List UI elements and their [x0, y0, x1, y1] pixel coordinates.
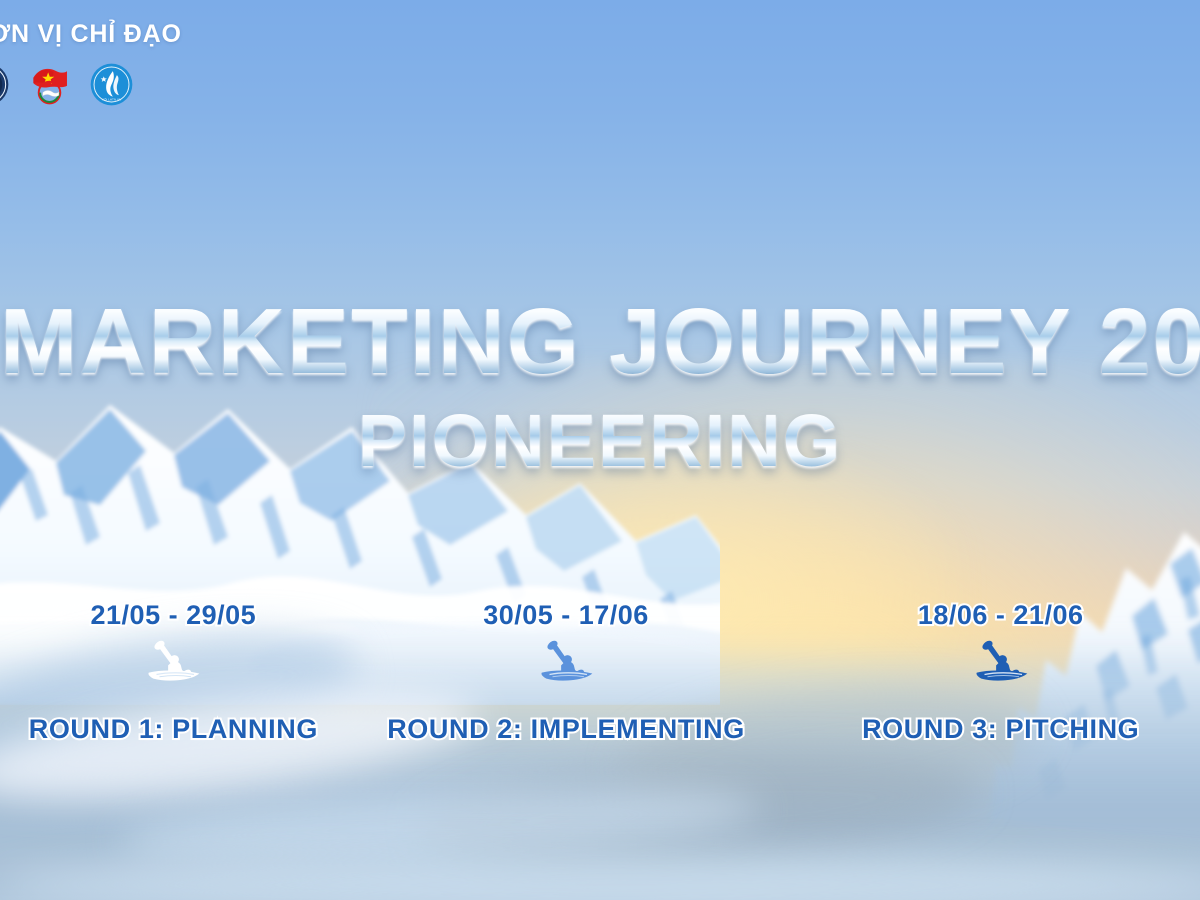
page-title: MARKETING JOURNEY 2024: [0, 297, 1200, 386]
svg-text:HỘI LHTN VN: HỘI LHTN VN: [102, 97, 122, 102]
university-seal-logo: ĐẠI HỌC: [0, 63, 9, 106]
poster-canvas: ĐƠN VỊ CHỈ ĐẠO ĐẠI HỌC: [0, 0, 1200, 900]
round-date: 30/05 - 17/06: [483, 600, 649, 631]
title-block: MARKETING JOURNEY 2024 PIONEERING: [0, 297, 1200, 478]
page-subtitle: PIONEERING: [0, 404, 1200, 478]
round-name: ROUND 3: PITCHING: [862, 714, 1139, 745]
rounds-timeline: 21/05 - 29/05 ROUND 1: PLAN: [0, 600, 1200, 745]
kayak-icon: [137, 637, 209, 691]
organizer-logos: ĐẠI HỌC: [0, 63, 182, 106]
round-date: 18/06 - 21/06: [918, 600, 1084, 631]
header-block: ĐƠN VỊ CHỈ ĐẠO ĐẠI HỌC: [0, 20, 182, 106]
organizer-label: ĐƠN VỊ CHỈ ĐẠO: [0, 20, 182, 49]
kayak-icon: [965, 637, 1037, 691]
youth-union-flag-logo: [28, 63, 71, 106]
kayak-icon: [530, 637, 602, 691]
youth-federation-logo: HỘI LHTN VN: [90, 63, 133, 106]
round-item: 21/05 - 29/05 ROUND 1: PLAN: [0, 600, 373, 745]
round-item: 18/06 - 21/06 ROUND 3: PITC: [801, 600, 1200, 745]
round-date: 21/05 - 29/05: [91, 600, 257, 631]
round-name: ROUND 1: PLANNING: [29, 714, 318, 745]
round-item: 30/05 - 17/06 ROUND 2: IMPL: [367, 600, 766, 745]
round-name: ROUND 2: IMPLEMENTING: [387, 714, 745, 745]
